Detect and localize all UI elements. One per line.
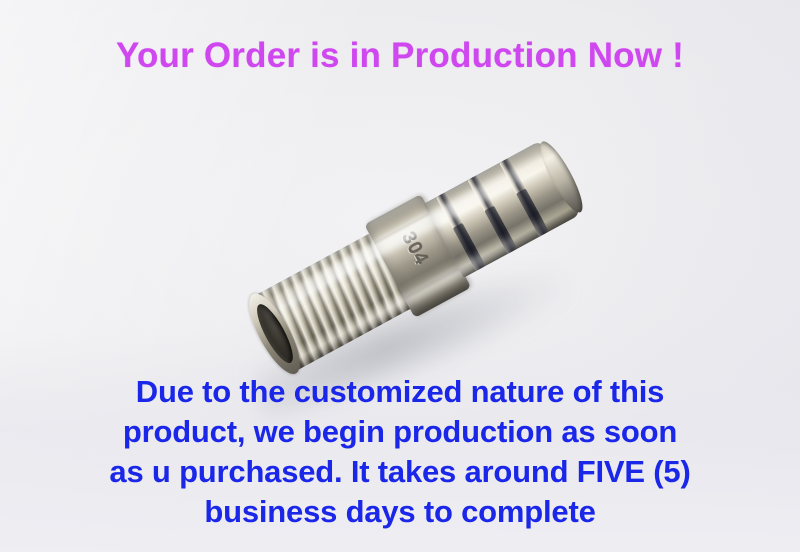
- notice-line-1: Due to the customized nature of this: [0, 372, 800, 412]
- notice-line-2: product, we begin production as soon: [0, 412, 800, 452]
- promo-image-canvas: Your Order is in Production Now ! 304 Du…: [0, 0, 800, 552]
- production-notice-text: Due to the customized nature of this pro…: [0, 372, 800, 532]
- product-photo: 304: [236, 152, 596, 362]
- notice-line-3: as u purchased. It takes around FIVE (5): [0, 452, 800, 492]
- notice-line-4: business days to complete: [0, 492, 800, 532]
- headline-text: Your Order is in Production Now !: [0, 36, 800, 76]
